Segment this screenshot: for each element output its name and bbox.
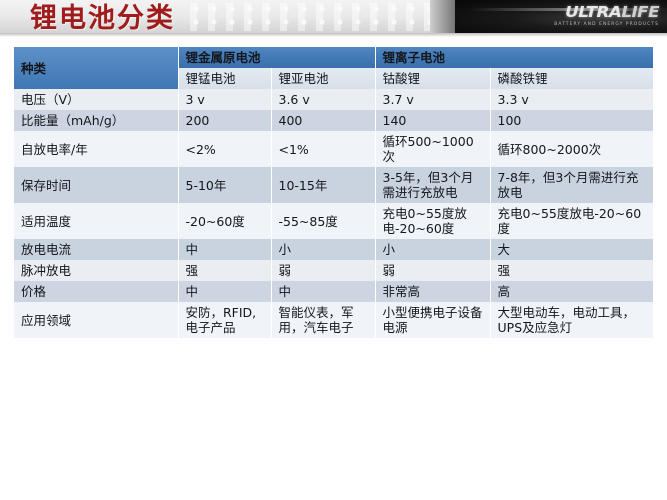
table-group-header-row: 种类 锂金属原电池 锂离子电池: [14, 47, 653, 68]
cell-self-discharge-lisocl2: <1%: [271, 131, 375, 167]
row-label-energy-density: 比能量（mAh/g）: [14, 110, 178, 131]
subheader-lfp: 磷酸铁锂: [490, 68, 653, 89]
cell-self-discharge-lco: 循环500~1000次: [375, 131, 490, 167]
logo-wordmark: ULTRALIFE: [518, 4, 659, 21]
cell-temperature-lisocl2: -55~85度: [271, 203, 375, 239]
cell-pulse-limn: 强: [178, 260, 271, 281]
table-body: 种类 锂金属原电池 锂离子电池 锂锰电池 锂亚电池 钴酸锂 磷酸铁锂 电压（V）…: [14, 47, 653, 338]
cell-storage-lfp: 7-8年，但3个月需进行充放电: [490, 167, 653, 203]
cell-price-limn: 中: [178, 281, 271, 302]
logo-word-accent: LIFE: [621, 3, 659, 21]
cell-temperature-lco: 充电0~55度放电-20~60度: [375, 203, 490, 239]
cell-discharge-current-limn: 中: [178, 239, 271, 260]
cell-storage-limn: 5-10年: [178, 167, 271, 203]
cell-applications-lco: 小型便携电子设备电源: [375, 302, 490, 338]
cell-temperature-limn: -20~60度: [178, 203, 271, 239]
cell-energy-lisocl2: 400: [271, 110, 375, 131]
page-title: 锂电池分类: [30, 3, 175, 35]
cell-energy-limn: 200: [178, 110, 271, 131]
cell-discharge-current-lco: 小: [375, 239, 490, 260]
row-label-pulse-discharge: 脉冲放电: [14, 260, 178, 281]
cell-energy-lco: 140: [375, 110, 490, 131]
cell-storage-lco: 3-5年，但3个月需进行充放电: [375, 167, 490, 203]
table-row: 适用温度 -20~60度 -55~85度 充电0~55度放电-20~60度 充电…: [14, 203, 653, 239]
table-row: 自放电率/年 <2% <1% 循环500~1000次 循环800~2000次: [14, 131, 653, 167]
cell-applications-limn: 安防，RFID,电子产品: [178, 302, 271, 338]
cell-energy-lfp: 100: [490, 110, 653, 131]
subheader-lco: 钴酸锂: [375, 68, 490, 89]
cell-discharge-current-lfp: 大: [490, 239, 653, 260]
cell-voltage-lisocl2: 3.6 v: [271, 89, 375, 110]
table-row: 放电电流 中 小 小 大: [14, 239, 653, 260]
cell-temperature-lfp: 充电0~55度放电-20~60度: [490, 203, 653, 239]
cell-discharge-current-lisocl2: 小: [271, 239, 375, 260]
row-label-storage-time: 保存时间: [14, 167, 178, 203]
cell-applications-lfp: 大型电动车，电动工具，UPS及应急灯: [490, 302, 653, 338]
row-label-voltage: 电压（V）: [14, 89, 178, 110]
table-row: 价格 中 中 非常高 高: [14, 281, 653, 302]
cell-price-lfp: 高: [490, 281, 653, 302]
table-row: 比能量（mAh/g） 200 400 140 100: [14, 110, 653, 131]
table-row: 保存时间 5-10年 10-15年 3-5年，但3个月需进行充放电 7-8年，但…: [14, 167, 653, 203]
table-row: 脉冲放电 强 弱 弱 强: [14, 260, 653, 281]
row-label-price: 价格: [14, 281, 178, 302]
row-label-self-discharge: 自放电率/年: [14, 131, 178, 167]
row-label-discharge-current: 放电电流: [14, 239, 178, 260]
logo-word-main: ULTRA: [565, 3, 621, 21]
cell-self-discharge-lfp: 循环800~2000次: [490, 131, 653, 167]
cell-voltage-lfp: 3.3 v: [490, 89, 653, 110]
battery-comparison-table: 种类 锂金属原电池 锂离子电池 锂锰电池 锂亚电池 钴酸锂 磷酸铁锂 电压（V）…: [14, 47, 653, 338]
cell-applications-lisocl2: 智能仪表，军用，汽车电子: [271, 302, 375, 338]
cell-price-lco: 非常高: [375, 281, 490, 302]
table-row: 电压（V） 3 v 3.6 v 3.7 v 3.3 v: [14, 89, 653, 110]
header-kind-cell: 种类: [14, 47, 178, 89]
cell-price-lisocl2: 中: [271, 281, 375, 302]
cell-pulse-lisocl2: 弱: [271, 260, 375, 281]
cell-storage-lisocl2: 10-15年: [271, 167, 375, 203]
slide-root: 锂电池分类 ULTRALIFE BATTERY AND ENERGY PRODU…: [0, 0, 667, 500]
cell-self-discharge-limn: <2%: [178, 131, 271, 167]
cell-voltage-lco: 3.7 v: [375, 89, 490, 110]
cell-pulse-lfp: 强: [490, 260, 653, 281]
spec-table-wrap: 种类 锂金属原电池 锂离子电池 锂锰电池 锂亚电池 钴酸锂 磷酸铁锂 电压（V）…: [14, 47, 653, 338]
cell-pulse-lco: 弱: [375, 260, 490, 281]
subheader-lisocl2: 锂亚电池: [271, 68, 375, 89]
row-label-temperature: 适用温度: [14, 203, 178, 239]
banner-dot-pattern: [190, 3, 460, 31]
subheader-limn: 锂锰电池: [178, 68, 271, 89]
table-row: 应用领域 安防，RFID,电子产品 智能仪表，军用，汽车电子 小型便携电子设备电…: [14, 302, 653, 338]
row-label-applications: 应用领域: [14, 302, 178, 338]
header-group-lithium-ion: 锂离子电池: [375, 47, 653, 68]
ultralife-logo: ULTRALIFE BATTERY AND ENERGY PRODUCTS: [533, 4, 659, 33]
logo-tagline: BATTERY AND ENERGY PRODUCTS: [533, 21, 659, 28]
cell-voltage-limn: 3 v: [178, 89, 271, 110]
header-group-lithium-metal: 锂金属原电池: [178, 47, 375, 68]
